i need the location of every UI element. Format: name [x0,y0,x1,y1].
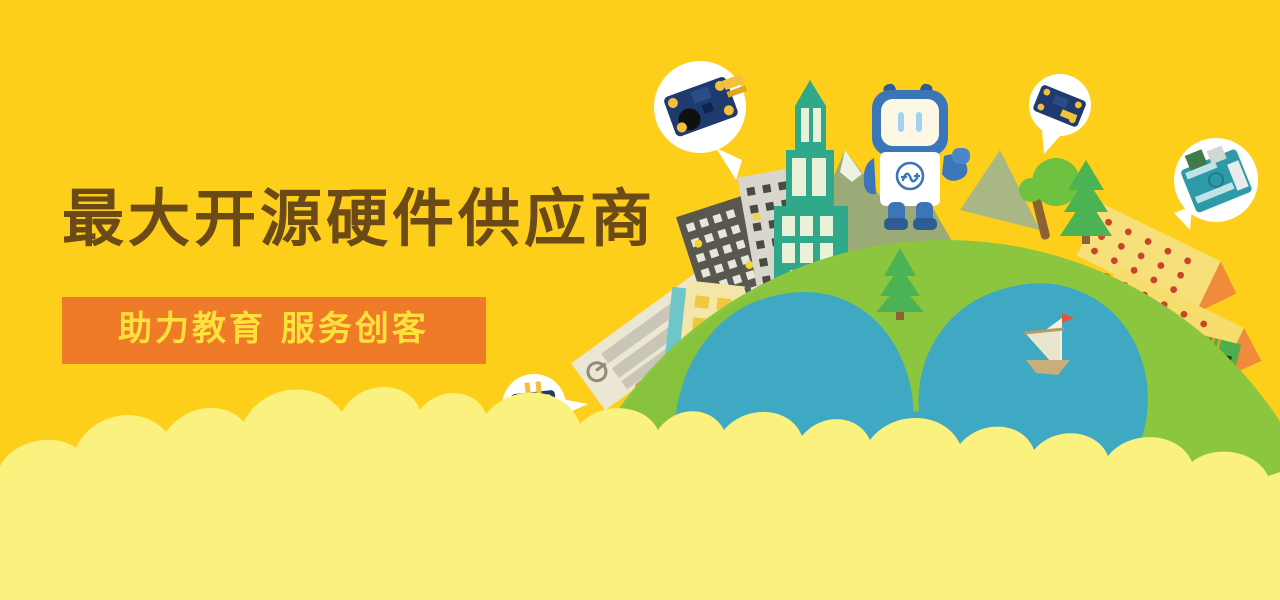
page-title: 最大开源硬件供应商 [62,186,682,253]
robot-eye-left [898,112,904,132]
subtitle-text: 助力教育 服务创客 [118,309,429,349]
headline-block: 最大开源硬件供应商 助力教育 服务创客 [62,186,682,364]
robot-eye-right [916,112,922,132]
promo-banner: 最大开源硬件供应商 助力教育 服务创客 [0,0,1280,600]
robot-face [881,99,939,146]
subtitle-badge: 助力教育 服务创客 [62,297,486,364]
